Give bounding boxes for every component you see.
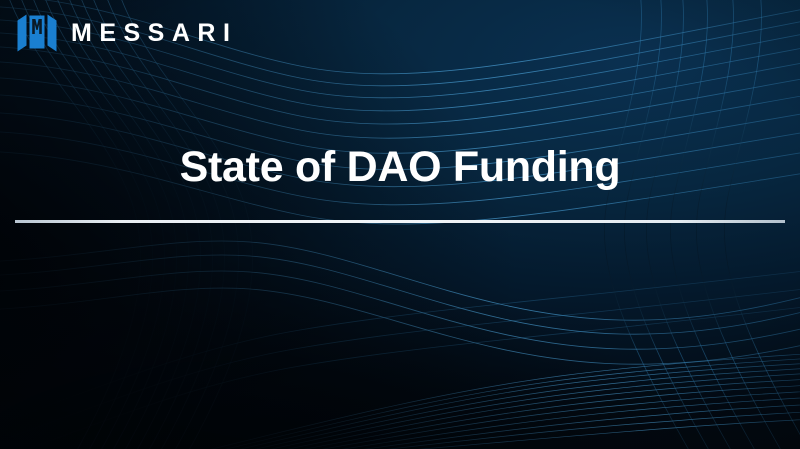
page-title: State of DAO Funding xyxy=(180,143,621,191)
title-block: State of DAO Funding xyxy=(0,143,800,191)
title-slide: MESSARI State of DAO Funding xyxy=(0,0,800,449)
background-vignette xyxy=(0,0,800,449)
messari-wordmark: MESSARI xyxy=(71,21,237,46)
messari-logo-lockup: MESSARI xyxy=(17,14,237,52)
title-divider-rule xyxy=(15,220,785,223)
messari-logo-mark-icon xyxy=(17,14,57,52)
